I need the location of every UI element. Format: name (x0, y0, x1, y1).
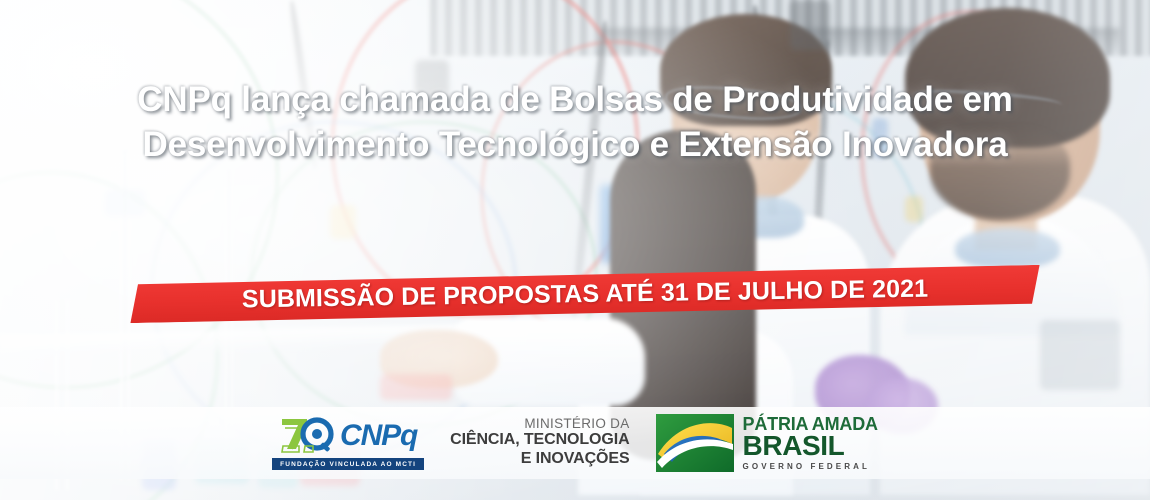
government-line-2: BRASIL (743, 432, 878, 461)
government-line-3: GOVERNO FEDERAL (743, 463, 878, 471)
brazil-flag-emblem-icon (656, 414, 734, 472)
page-title: CNPq lança chamada de Bolsas de Produtiv… (0, 78, 1150, 168)
government-logo-text: PÁTRIA AMADA BRASIL GOVERNO FEDERAL (743, 415, 878, 471)
cnpq-70-anniversary-icon (279, 416, 337, 456)
ministry-logo[interactable]: MINISTÉRIO DA CIÊNCIA, TECNOLOGIA E INOV… (450, 416, 629, 470)
cnpq-wordmark: CNPq (340, 421, 417, 451)
cnpq-logo[interactable]: CNPq FUNDAÇÃO VINCULADA AO MCTI (272, 416, 424, 470)
ministry-line-2: CIÊNCIA, TECNOLOGIA (450, 431, 629, 449)
ministry-line-1: MINISTÉRIO DA (524, 416, 629, 431)
cnpq-logo-row: CNPq (279, 416, 417, 456)
logo-strip: CNPq FUNDAÇÃO VINCULADA AO MCTI MINISTÉR… (0, 407, 1150, 479)
cnpq-tagline: FUNDAÇÃO VINCULADA AO MCTI (272, 458, 424, 470)
cnpq-announcement-banner: CNPq lança chamada de Bolsas de Produtiv… (0, 0, 1150, 500)
government-logo[interactable]: PÁTRIA AMADA BRASIL GOVERNO FEDERAL (656, 414, 878, 472)
ministry-line-3: E INOVAÇÕES (521, 450, 630, 468)
